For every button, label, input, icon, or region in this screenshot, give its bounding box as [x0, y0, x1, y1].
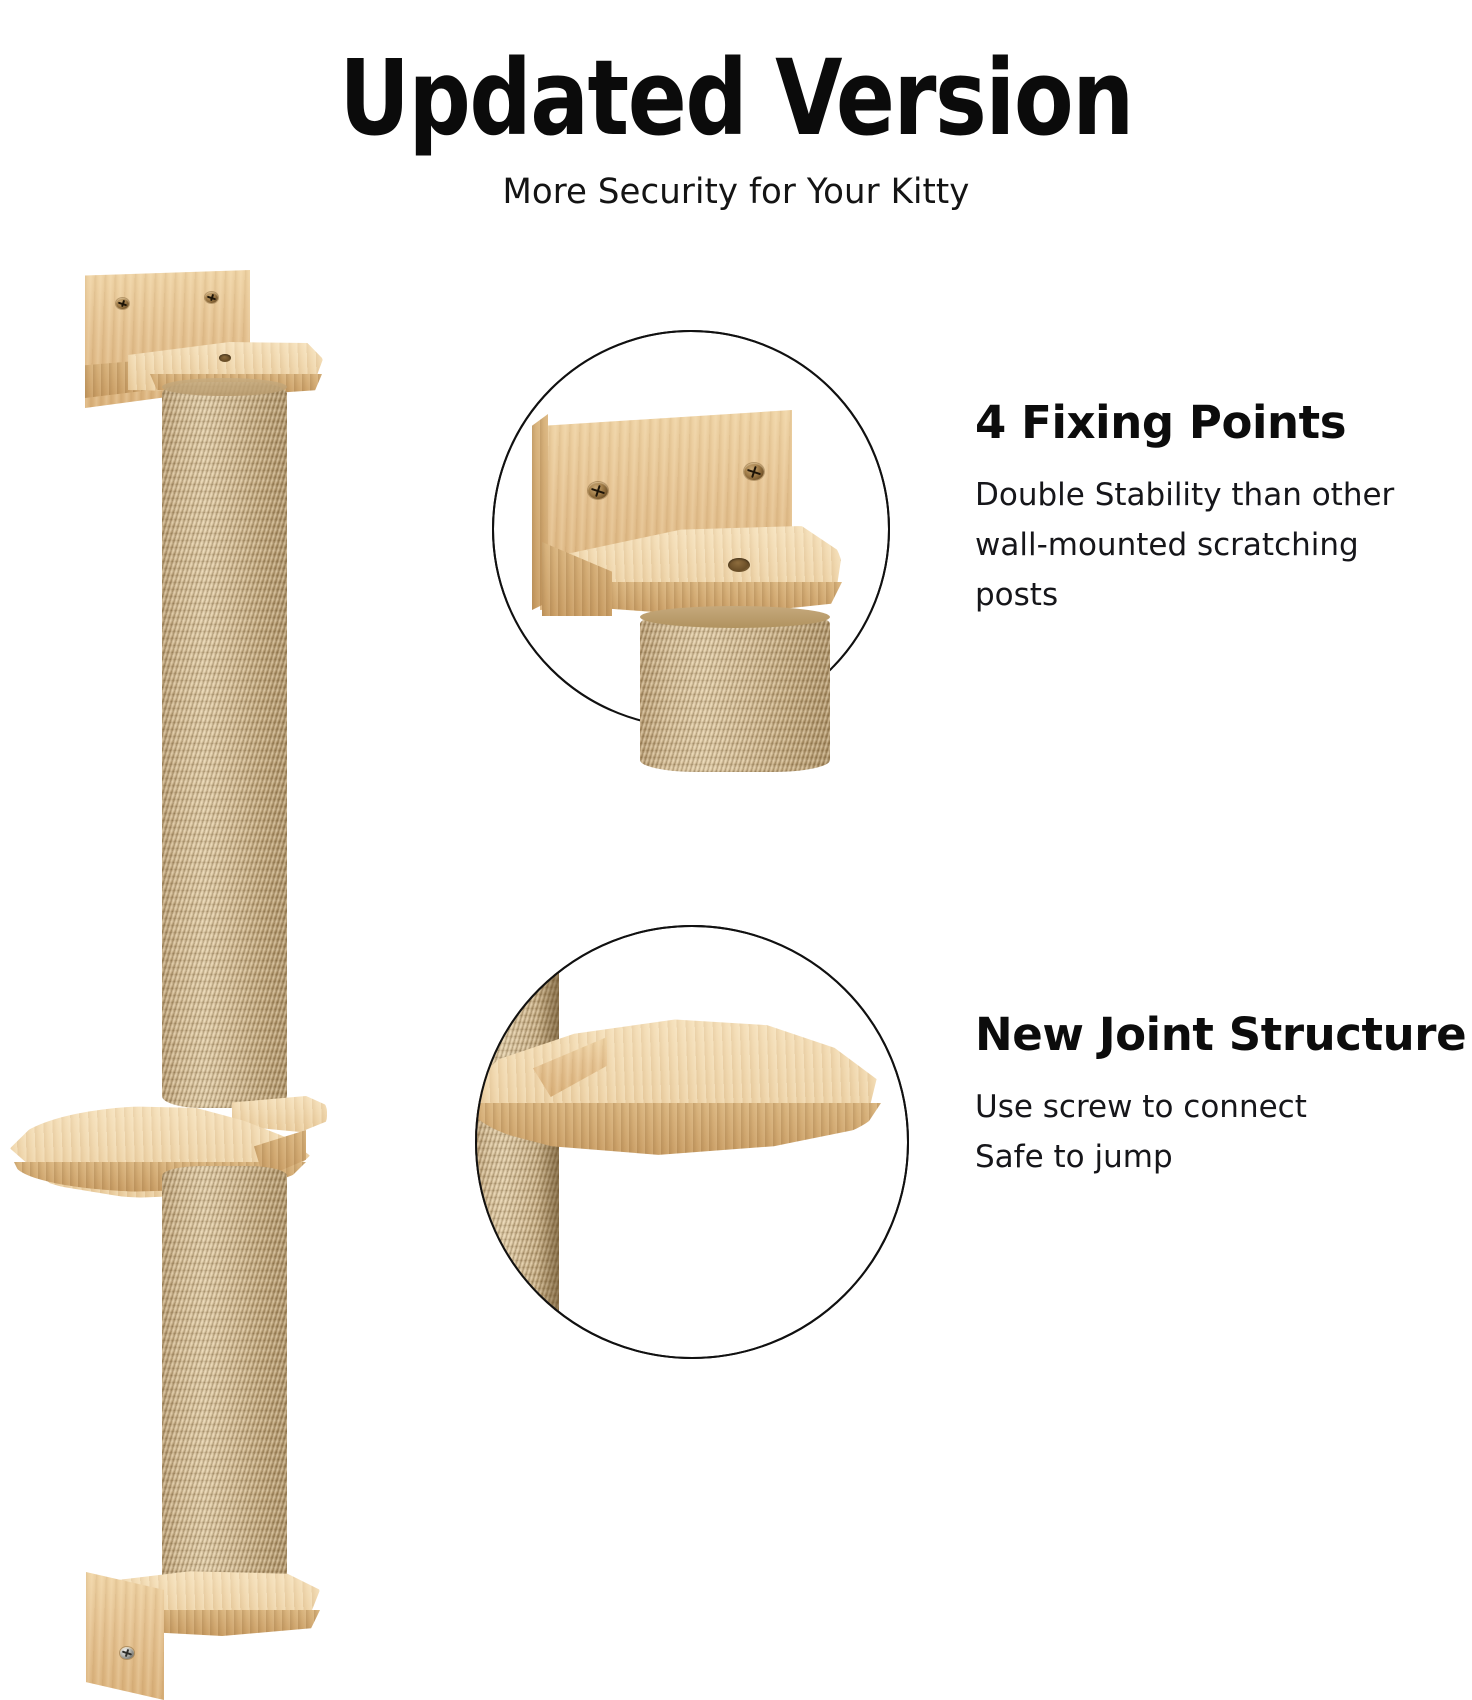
screw-icon — [116, 298, 129, 309]
callout-image-joint — [475, 925, 909, 1359]
scratching-post-upper — [162, 382, 287, 1108]
screw-icon — [588, 482, 608, 499]
product-photo — [0, 250, 400, 1480]
feature-heading: 4 Fixing Points — [975, 398, 1445, 448]
scratching-post-lower — [162, 1166, 287, 1614]
bottom-bracket-wall-plate — [86, 1572, 164, 1700]
feature-body: Double Stability than other wall-mounted… — [975, 448, 1445, 621]
feature-block-fixing-points: 4 Fixing Points Double Stability than ot… — [975, 398, 1445, 620]
page-subtitle: More Security for Your Kitty — [22, 154, 1450, 212]
shelf-connector-hole — [219, 354, 231, 362]
screw-icon — [205, 292, 218, 303]
feature-body: Use screw to connect Safe to jump — [975, 1060, 1472, 1182]
feature-body-line: Double Stability than other — [975, 470, 1445, 520]
callout-fixing-points — [492, 330, 890, 728]
detail-rope-post — [640, 612, 830, 772]
feature-body-line: wall-mounted scratching — [975, 520, 1445, 570]
feature-heading: New Joint Structure — [975, 1010, 1472, 1060]
screw-icon — [744, 463, 764, 480]
post-top-rim — [162, 378, 287, 396]
feature-body-line: Use screw to connect — [975, 1082, 1472, 1132]
callout-joint-structure — [475, 925, 909, 1359]
feature-block-joint-structure: New Joint Structure Use screw to connect… — [975, 1010, 1472, 1182]
feature-body-line: Safe to jump — [975, 1132, 1472, 1182]
detail-post-top-rim — [640, 606, 830, 628]
page-title: Updated Version — [52, 0, 1421, 154]
feature-body-line: posts — [975, 570, 1445, 620]
callout-image-top-bracket — [492, 330, 890, 728]
screw-icon — [120, 1647, 134, 1659]
header: Updated Version More Security for Your K… — [0, 0, 1472, 212]
shelf-connector-hole — [728, 558, 750, 572]
